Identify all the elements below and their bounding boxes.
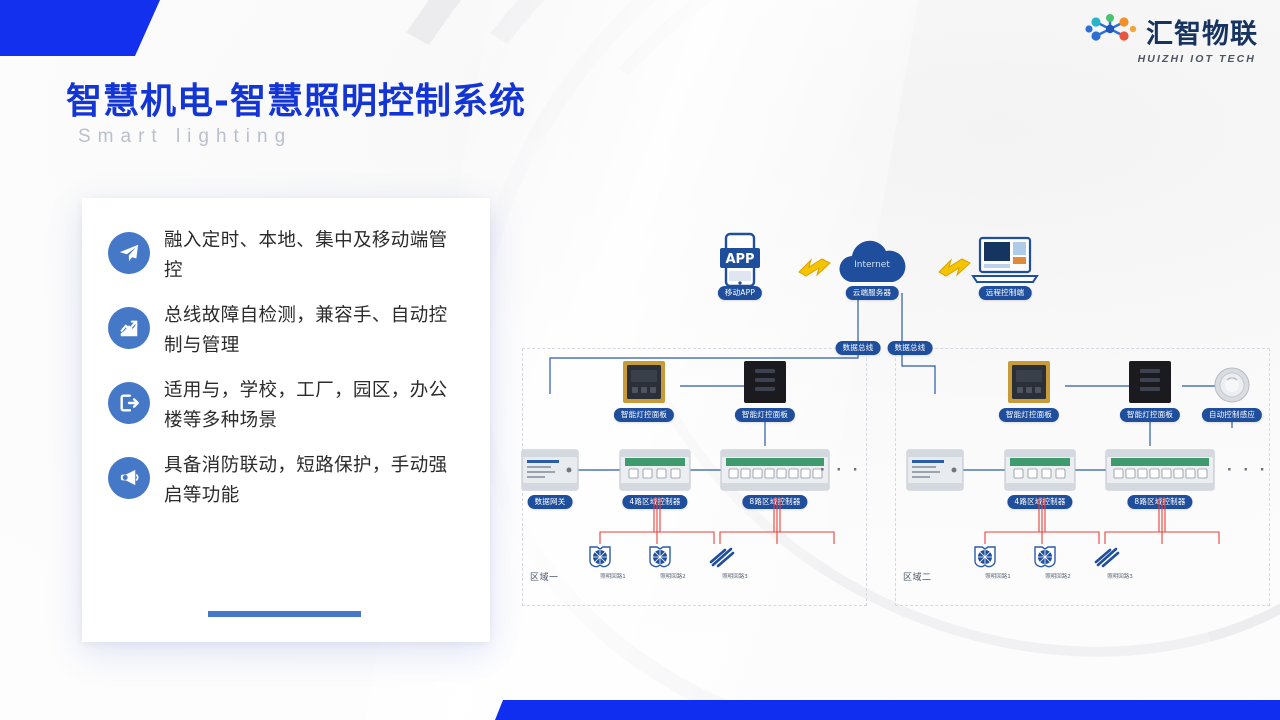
lightning-bolt-icon-left — [795, 256, 835, 278]
lighting-circuit-label-1-2: 照明回路2 — [660, 572, 686, 580]
din-controller-icon — [619, 446, 691, 494]
brand-name-cn: 汇智物联 — [1146, 12, 1258, 51]
area-controller-4ch-2[interactable] — [1004, 446, 1076, 499]
lighting-panel-1b[interactable] — [743, 360, 787, 409]
feature-item-2: 总线故障自检测，兼容手、自动控制与管理 — [108, 301, 464, 361]
lighting-circuit-1-3[interactable] — [707, 544, 737, 575]
feature-item-1: 融入定时、本地、集中及移动端管控 — [108, 226, 464, 286]
lighting-panel-label-2a: 智能灯控面板 — [999, 408, 1059, 422]
cloud-icon: Internet — [832, 236, 912, 288]
feature-item-4: 具备消防联动，短路保护，手动强启等功能 — [108, 451, 464, 511]
zone-label-1: 区域一 — [530, 570, 559, 583]
cloud-server-node[interactable]: Internet — [832, 236, 912, 293]
din-gateway-icon — [906, 446, 964, 494]
zone-label-2: 区域二 — [903, 570, 932, 583]
area-controller-4ch-1[interactable] — [619, 446, 691, 499]
feature-list: 融入定时、本地、集中及移动端管控 总线故障自检测，兼容手、自动控制与管理 — [82, 198, 490, 511]
gateway-device-1[interactable] — [521, 446, 579, 499]
din-controller-icon — [1105, 446, 1215, 494]
lamp-circuit-icon — [1032, 544, 1058, 570]
gateway-device-2[interactable] — [906, 446, 964, 499]
lighting-circuit-1-2[interactable] — [647, 544, 673, 575]
lighting-panel-1a[interactable] — [622, 360, 666, 409]
light-control-panel-icon — [622, 360, 666, 404]
card-accent-underline — [208, 611, 361, 617]
din-controller-icon — [720, 446, 830, 494]
lighting-circuit-label-2-1: 照明回路1 — [985, 572, 1011, 580]
page-subtitle: Smart lighting — [78, 126, 292, 148]
logout-arrow-icon — [108, 382, 150, 424]
light-control-panel-icon — [743, 360, 787, 404]
light-control-panel-icon — [1128, 360, 1172, 404]
lighting-circuit-2-3[interactable] — [1092, 544, 1122, 575]
rotary-sensor-icon — [1213, 366, 1251, 404]
smartphone-icon: APP — [716, 232, 764, 288]
data-bus-label-1: 数据总线 — [836, 341, 881, 355]
zone-overflow-dots-2: · · · — [1227, 460, 1268, 480]
data-bus-label-2: 数据总线 — [888, 341, 933, 355]
din-controller-icon — [1004, 446, 1076, 494]
light-control-panel-icon — [1007, 360, 1051, 404]
feature-text-1: 融入定时、本地、集中及移动端管控 — [164, 226, 464, 286]
megaphone-icon — [108, 457, 150, 499]
zone-overflow-dots-1: · · · — [820, 460, 861, 480]
lighting-circuit-label-2-3: 照明回路3 — [1107, 572, 1133, 580]
lighting-panel-2a[interactable] — [1007, 360, 1051, 409]
feature-text-3: 适用与，学校，工厂，园区，办公楼等多种场景 — [164, 376, 464, 436]
fluorescent-tube-icon — [1092, 544, 1122, 570]
auto-control-sensor[interactable] — [1213, 366, 1251, 409]
fluorescent-tube-icon — [707, 544, 737, 570]
din-gateway-icon — [521, 446, 579, 494]
brand-name-en: HUIZHI IOT TECH — [1138, 53, 1256, 65]
lighting-panel-2b[interactable] — [1128, 360, 1172, 409]
system-architecture-diagram: 区域一 区域二 APP 移动APP Internet 云端服务器 远程控制端 — [510, 198, 1280, 618]
lighting-circuit-label-2-2: 照明回路2 — [1045, 572, 1071, 580]
mobile-app-node[interactable]: APP — [716, 232, 764, 293]
feature-text-4: 具备消防联动，短路保护，手动强启等功能 — [164, 451, 464, 511]
lighting-panel-label-1a: 智能灯控面板 — [614, 408, 674, 422]
feature-card: 融入定时、本地、集中及移动端管控 总线故障自检测，兼容手、自动控制与管理 — [82, 198, 490, 642]
lighting-panel-label-1b: 智能灯控面板 — [735, 408, 795, 422]
lamp-circuit-icon — [647, 544, 673, 570]
laptop-icon — [970, 236, 1040, 286]
molecule-icon — [1082, 12, 1138, 51]
lighting-circuit-label-1-1: 照明回路1 — [600, 572, 626, 580]
lighting-circuit-2-1[interactable] — [972, 544, 998, 575]
lighting-panel-label-2b: 智能灯控面板 — [1120, 408, 1180, 422]
corner-accent-top-left — [0, 0, 160, 56]
page-title: 智慧机电-智慧照明控制系统 — [66, 72, 526, 124]
auto-control-sensor-label: 自动控制感应 — [1202, 408, 1262, 422]
svg-text:APP: APP — [725, 252, 754, 267]
lamp-circuit-icon — [972, 544, 998, 570]
cloud-server-label: 云端服务器 — [846, 286, 899, 300]
area-controller-8ch-1[interactable] — [720, 446, 830, 499]
feature-item-3: 适用与，学校，工厂，园区，办公楼等多种场景 — [108, 376, 464, 436]
paper-plane-icon — [108, 232, 150, 274]
brand-logo: 汇智物联 HUIZHI IOT TECH — [1082, 12, 1258, 65]
remote-control-label: 远程控制端 — [979, 286, 1032, 300]
lighting-circuit-2-2[interactable] — [1032, 544, 1058, 575]
chart-line-icon — [108, 307, 150, 349]
mobile-app-label: 移动APP — [718, 286, 762, 300]
lamp-circuit-icon — [587, 544, 613, 570]
lightning-bolt-icon-right — [935, 256, 975, 278]
lighting-circuit-1-1[interactable] — [587, 544, 613, 575]
cloud-internet-text: Internet — [854, 260, 890, 270]
remote-control-node[interactable] — [970, 236, 1040, 291]
area-controller-8ch-2[interactable] — [1105, 446, 1215, 499]
feature-text-2: 总线故障自检测，兼容手、自动控制与管理 — [164, 301, 464, 361]
lighting-circuit-label-1-3: 照明回路3 — [722, 572, 748, 580]
gateway-label-1: 数据网关 — [528, 495, 573, 509]
